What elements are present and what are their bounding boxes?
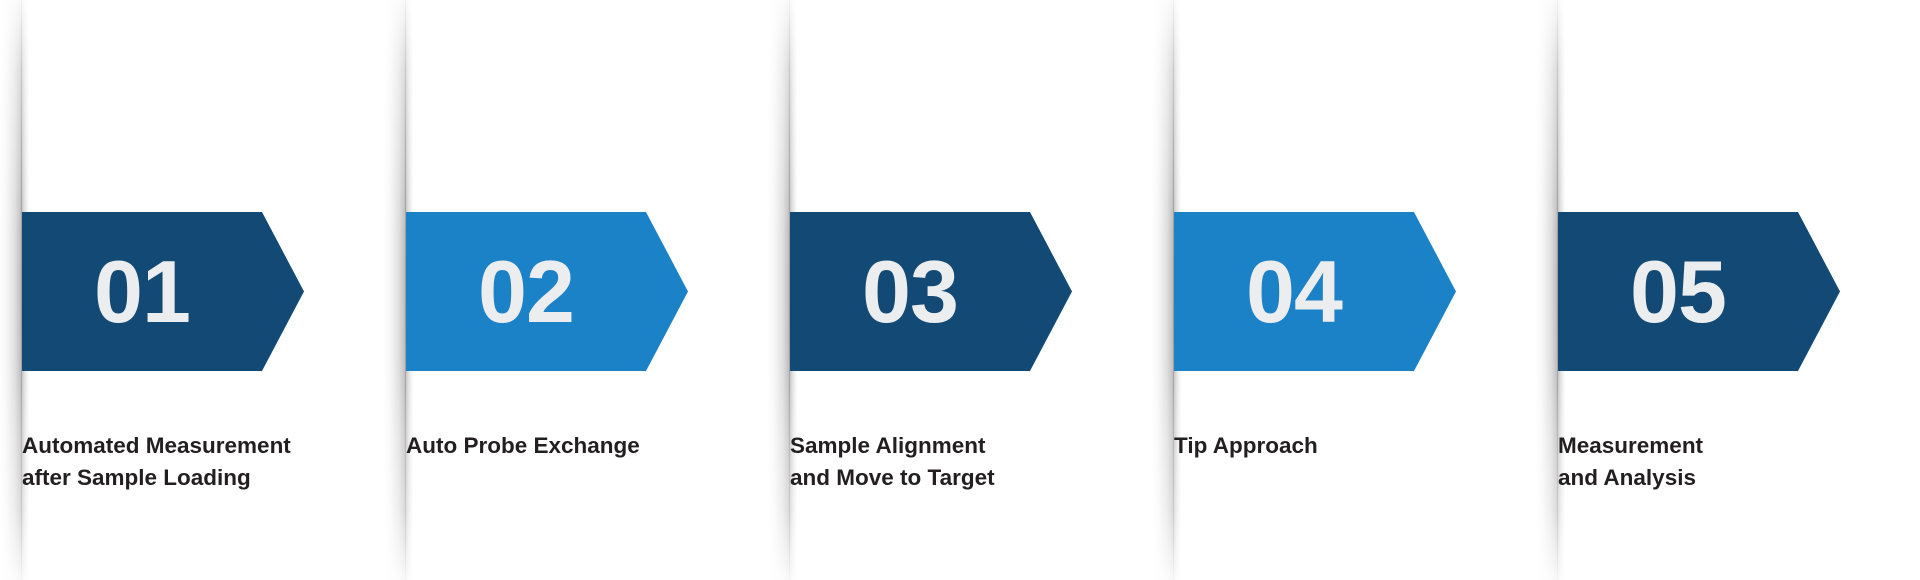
- process-flow-diagram: 01 Automated Measurement after Sample Lo…: [0, 0, 1920, 580]
- step-arrow-01[interactable]: 01: [22, 212, 304, 371]
- step-arrow-04[interactable]: 04: [1174, 212, 1456, 371]
- step-label-02: Auto Probe Exchange: [406, 430, 736, 462]
- step-card-03[interactable]: 03 Sample Alignment and Move to Target: [768, 0, 1152, 580]
- step-arrow-05[interactable]: 05: [1558, 212, 1840, 371]
- step-number-03: 03: [790, 212, 1030, 371]
- step-number-04: 04: [1174, 212, 1414, 371]
- step-label-05: Measurement and Analysis: [1558, 430, 1888, 494]
- step-label-01: Automated Measurement after Sample Loadi…: [22, 430, 352, 494]
- step-arrow-02[interactable]: 02: [406, 212, 688, 371]
- step-number-01: 01: [22, 212, 262, 371]
- step-card-05[interactable]: 05 Measurement and Analysis: [1536, 0, 1920, 580]
- step-label-04: Tip Approach: [1174, 430, 1504, 462]
- step-card-04[interactable]: 04 Tip Approach: [1152, 0, 1536, 580]
- step-card-01[interactable]: 01 Automated Measurement after Sample Lo…: [0, 0, 384, 580]
- step-number-02: 02: [406, 212, 646, 371]
- step-card-02[interactable]: 02 Auto Probe Exchange: [384, 0, 768, 580]
- step-arrow-03[interactable]: 03: [790, 212, 1072, 371]
- step-label-03: Sample Alignment and Move to Target: [790, 430, 1120, 494]
- step-number-05: 05: [1558, 212, 1798, 371]
